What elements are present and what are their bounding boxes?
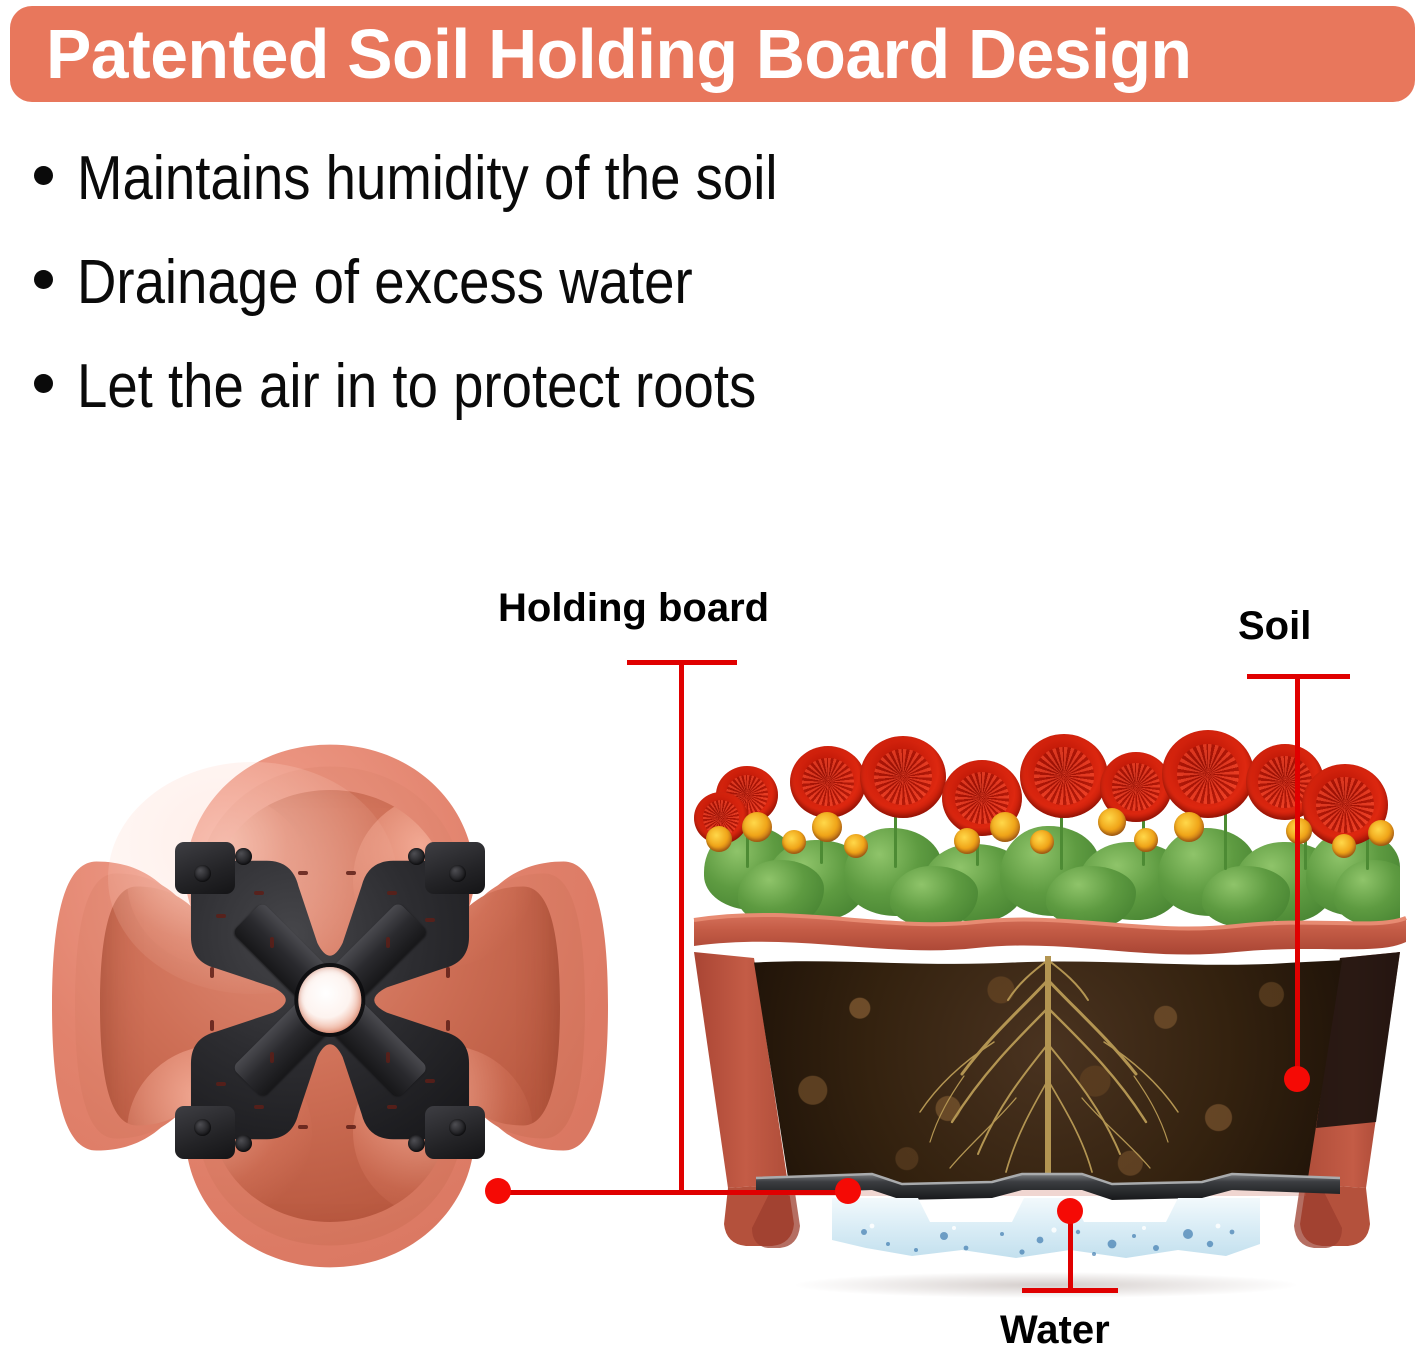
- feature-text: Drainage of excess water: [77, 252, 693, 314]
- board-screw-boss: [194, 1119, 211, 1136]
- board-drain-slot: [346, 871, 356, 875]
- leader-line-soil: [1295, 674, 1300, 1078]
- flower-bud: [742, 812, 772, 842]
- board-drain-slot: [270, 937, 274, 948]
- red-chrysanthemum: [790, 746, 866, 818]
- flower-bud: [1134, 828, 1158, 852]
- feature-text: Let the air in to protect roots: [77, 356, 756, 418]
- feature-list: Maintains humidity of the soil Drainage …: [34, 148, 1134, 460]
- soil-holding-board: [172, 835, 489, 1166]
- flower-bud: [782, 830, 806, 854]
- plant-root-system: [754, 956, 1342, 1188]
- leader-tbar-water: [1022, 1288, 1118, 1293]
- callout-label-holding-board: Holding board: [498, 585, 769, 631]
- board-drain-slot: [210, 1020, 214, 1031]
- bullet-dot-icon: [34, 166, 53, 185]
- board-drain-slot: [346, 1125, 356, 1129]
- infographic-page: Patented Soil Holding Board Design Maint…: [0, 0, 1424, 1368]
- board-drain-slot: [216, 1082, 226, 1086]
- leader-dot-water: [1057, 1198, 1083, 1224]
- board-screw-boss: [235, 848, 252, 865]
- bullet-dot-icon: [34, 374, 53, 393]
- leader-line-holding-board: [679, 660, 684, 1193]
- board-drain-slot: [446, 967, 450, 978]
- center-drain-hole: [298, 967, 361, 1033]
- board-drain-slot: [387, 1105, 397, 1109]
- product-photo-cross-section: [676, 706, 1418, 1302]
- feature-text: Maintains humidity of the soil: [77, 148, 778, 210]
- bullet-dot-icon: [34, 270, 53, 289]
- board-drain-slot: [386, 937, 390, 948]
- leader-dot-soil: [1284, 1066, 1310, 1092]
- leader-dot-holding-board-left: [485, 1178, 511, 1204]
- leader-bridge-holding-board: [498, 1190, 850, 1195]
- flower-bud: [990, 812, 1020, 842]
- board-drain-slot: [298, 1125, 308, 1129]
- list-item: Drainage of excess water: [34, 252, 1134, 356]
- board-drain-slot: [387, 891, 397, 895]
- flower-bud: [1174, 812, 1204, 842]
- board-drain-slot: [254, 1105, 264, 1109]
- leader-dot-holding-board-right: [835, 1178, 861, 1204]
- callout-label-water: Water: [1000, 1307, 1110, 1353]
- list-item: Let the air in to protect roots: [34, 356, 1134, 460]
- flower-bud: [1332, 834, 1356, 858]
- quatrefoil-planter-shape: [52, 716, 608, 1296]
- flower-bud: [812, 812, 842, 842]
- board-drain-slot: [254, 891, 264, 895]
- board-drain-slot: [446, 1020, 450, 1031]
- flower-bud: [1368, 820, 1394, 846]
- planter-drop-shadow: [796, 1272, 1296, 1298]
- board-drain-slot: [425, 1079, 435, 1083]
- flower-bud: [1030, 830, 1054, 854]
- red-chrysanthemum: [860, 736, 946, 818]
- board-drain-slot: [216, 914, 226, 918]
- board-drain-slot: [298, 871, 308, 875]
- callout-label-soil: Soil: [1238, 603, 1311, 649]
- red-chrysanthemum: [1162, 730, 1254, 818]
- flower-bud: [706, 826, 732, 852]
- board-screw-boss: [194, 865, 211, 882]
- board-drain-slot: [386, 1052, 390, 1063]
- flower-bud: [954, 828, 980, 854]
- board-drain-slot: [210, 967, 214, 978]
- board-drain-slot: [270, 1052, 274, 1063]
- board-screw-boss: [449, 1119, 466, 1136]
- flower-bud: [1098, 808, 1126, 836]
- board-drain-slot: [425, 918, 435, 922]
- flower-bud: [844, 834, 868, 858]
- header-banner: Patented Soil Holding Board Design: [10, 6, 1415, 102]
- product-photo-top-down-planter: [52, 716, 608, 1296]
- red-chrysanthemum: [1020, 734, 1108, 818]
- board-screw-boss: [449, 865, 466, 882]
- page-title: Patented Soil Holding Board Design: [46, 19, 1191, 89]
- list-item: Maintains humidity of the soil: [34, 148, 1134, 252]
